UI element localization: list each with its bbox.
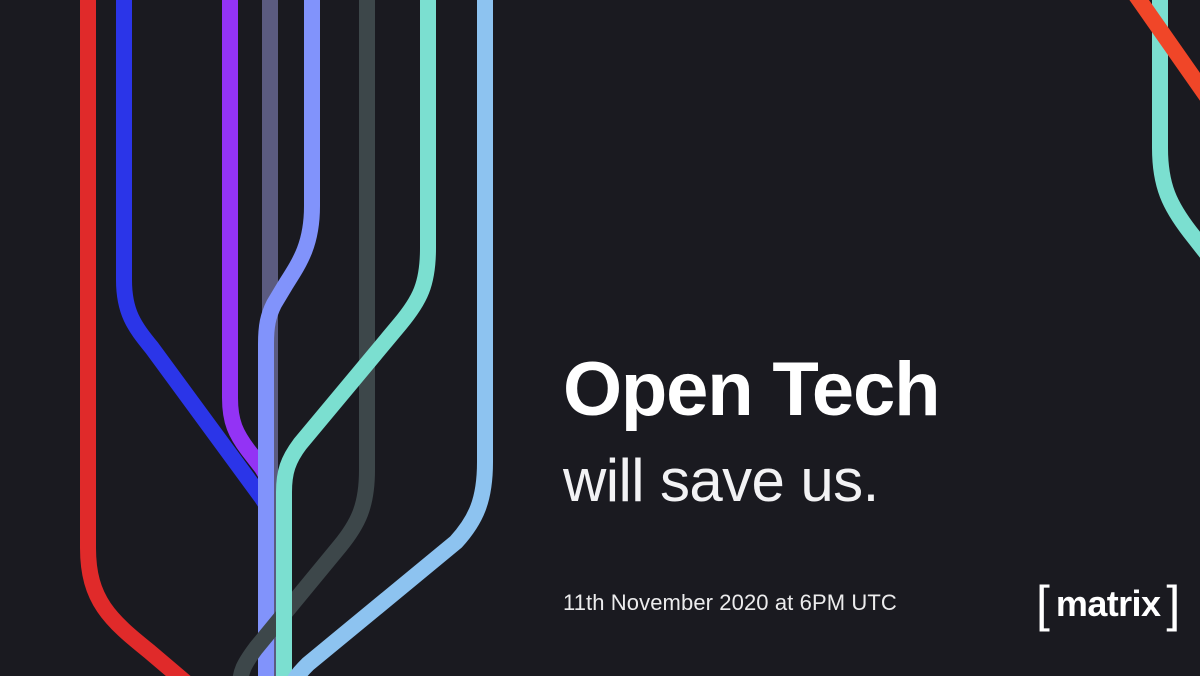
matrix-logo: [ matrix ] <box>1036 578 1180 630</box>
event-datetime: 11th November 2020 at 6PM UTC <box>563 592 897 614</box>
page-title: Open Tech <box>563 352 939 428</box>
promo-banner: Open Tech will save us. 11th November 20… <box>0 0 1200 676</box>
logo-wordmark: matrix <box>1050 586 1166 622</box>
logo-bracket-right-icon: ] <box>1166 579 1180 629</box>
page-subtitle: will save us. <box>563 451 879 511</box>
logo-bracket-left-icon: [ <box>1036 579 1050 629</box>
